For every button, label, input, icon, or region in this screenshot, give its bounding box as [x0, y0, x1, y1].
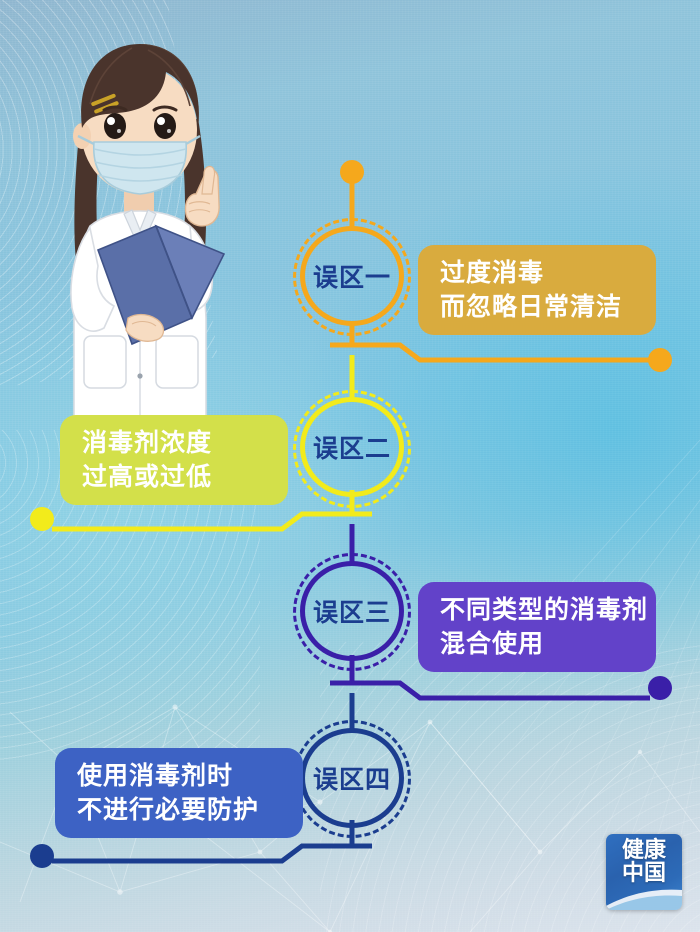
step-circle-label-2: 误区二 [305, 402, 399, 492]
logo-swish-icon [606, 880, 682, 910]
infographic-poster: 误区一 过度消毒 而忽略日常清洁 误区二 消毒剂浓度 过高或过低 误区三 不同类… [0, 0, 700, 932]
step-bubble-line-4b: 不进行必要防护 [77, 793, 281, 828]
step-bubble-1[interactable]: 过度消毒 而忽略日常清洁 [418, 245, 656, 335]
step-ring-4: 误区四 [300, 728, 404, 828]
step-bubble-line-4a: 使用消毒剂时 [77, 759, 281, 794]
step-bubble-line-1a: 过度消毒 [440, 256, 634, 291]
cartoon-doctor-illustration [28, 18, 278, 418]
step-bubble-2[interactable]: 消毒剂浓度 过高或过低 [60, 415, 288, 505]
step-bubble-line-2b: 过高或过低 [82, 460, 266, 495]
endcap-dot-step3 [648, 676, 672, 700]
step-bubble-line-2a: 消毒剂浓度 [82, 426, 266, 461]
step-circle-label-1: 误区一 [305, 231, 399, 321]
step-circle-label-4: 误区四 [305, 733, 399, 823]
endcap-dot-step1 [648, 348, 672, 372]
step-circle-label-3: 误区三 [305, 566, 399, 656]
step-bubble-line-1b: 而忽略日常清洁 [440, 290, 634, 325]
endcap-dot-step4 [30, 844, 54, 868]
step-ring-3: 误区三 [300, 561, 404, 661]
step-bubble-3[interactable]: 不同类型的消毒剂 混合使用 [418, 582, 656, 672]
endcap-dot-step2 [30, 507, 54, 531]
step-ring-1: 误区一 [300, 226, 404, 326]
logo-line-1: 健康 [606, 840, 682, 863]
healthy-china-logo[interactable]: 健康 中国 [606, 834, 682, 910]
step-bubble-line-3a: 不同类型的消毒剂 [440, 593, 634, 628]
step-bubble-4[interactable]: 使用消毒剂时 不进行必要防护 [55, 748, 303, 838]
node-dot-top [340, 160, 364, 184]
step-bubble-line-3b: 混合使用 [440, 627, 634, 662]
step-ring-2: 误区二 [300, 397, 404, 497]
